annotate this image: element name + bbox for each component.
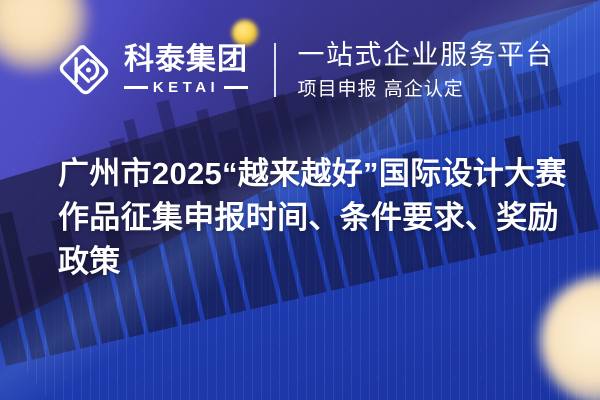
banner-header: 科泰集团 KETAI 一站式企业服务平台 项目申报 高企认定 [0, 0, 600, 140]
tagline-main: 一站式企业服务平台 [298, 42, 555, 69]
header-tagline: 一站式企业服务平台 项目申报 高企认定 [298, 42, 555, 99]
brand-name-english-row: KETAI [124, 80, 248, 95]
brand-name-chinese: 科泰集团 [124, 45, 248, 75]
wordmark-rule-right [224, 86, 248, 89]
wordmark-rule-left [124, 86, 148, 89]
brand-wordmark: 科泰集团 KETAI [124, 45, 248, 95]
brand-logo: 科泰集团 KETAI [56, 42, 248, 98]
page-title: 广州市2025“越来越好”国际设计大赛作品征集申报时间、条件要求、奖励政策 [58, 152, 578, 284]
header-divider [274, 43, 276, 97]
promo-banner: 科泰集团 KETAI 一站式企业服务平台 项目申报 高企认定 广州市2025“越… [0, 0, 600, 400]
tagline-sub: 项目申报 高企认定 [298, 80, 555, 99]
ketai-diamond-kd-monogram-icon [56, 42, 112, 98]
glow-orb-bottom-right [540, 276, 600, 400]
brand-name-english: KETAI [153, 80, 219, 95]
